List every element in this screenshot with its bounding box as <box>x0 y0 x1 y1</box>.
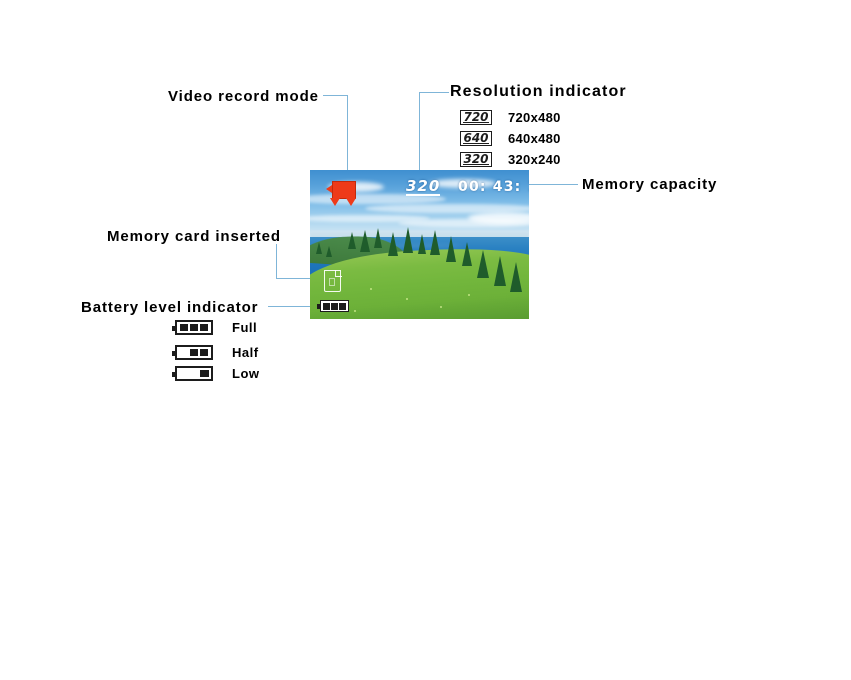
osd-memory-capacity-timer: 00: 43: 16 <box>458 179 529 195</box>
meadow-fleck <box>406 298 408 300</box>
resolution-legend-row: 640 640x480 <box>450 128 627 149</box>
video-camera-icon <box>326 179 360 209</box>
callout-battery-level-indicator: Battery level indicator <box>81 299 258 316</box>
pine-tree <box>510 262 522 292</box>
resolution-legend-title: Resolution indicator <box>450 83 627 101</box>
memory-card-icon <box>324 270 341 292</box>
pine-tree <box>462 242 472 266</box>
battery-full-icon <box>175 320 213 335</box>
leader-resolution-horizontal <box>419 92 449 93</box>
battery-legend-row-low: Low <box>170 366 260 381</box>
battery-segment <box>200 324 208 331</box>
battery-full-icon <box>320 300 349 312</box>
video-camera-foot-left <box>330 198 340 206</box>
battery-segment <box>180 324 188 331</box>
meadow-fleck <box>440 306 442 308</box>
battery-segment <box>190 349 198 356</box>
battery-segment <box>200 370 209 377</box>
pine-tree <box>418 234 426 254</box>
video-camera-body <box>332 181 356 199</box>
battery-legend-row-full: Full <box>170 320 257 335</box>
resolution-badge-320: 320 <box>460 152 492 167</box>
resolution-legend-row: 720 720x480 <box>450 107 627 128</box>
pine-tree <box>446 236 456 262</box>
resolution-text-720: 720x480 <box>508 110 561 125</box>
resolution-badge-640: 640 <box>460 131 492 146</box>
resolution-badge-720: 720 <box>460 110 492 125</box>
pine-tree <box>388 232 398 256</box>
resolution-text-320: 320x240 <box>508 152 561 167</box>
pine-tree <box>430 230 440 255</box>
resolution-text-640: 640x480 <box>508 131 561 146</box>
battery-segment <box>190 324 198 331</box>
pine-tree <box>477 250 489 278</box>
battery-segment <box>200 349 208 356</box>
battery-segment <box>323 303 330 310</box>
leader-resolution-vertical <box>419 92 420 174</box>
leader-memory-capacity-horizontal <box>525 184 578 185</box>
battery-legend-label-full: Full <box>232 320 257 335</box>
battery-half-icon <box>175 345 213 360</box>
pine-tree <box>360 230 370 252</box>
resolution-legend: Resolution indicator 720 720x480 640 640… <box>450 83 627 170</box>
battery-legend-label-low: Low <box>232 366 260 381</box>
leader-video-record-mode-vertical <box>347 95 348 173</box>
memory-card-inner <box>329 278 335 286</box>
cloud <box>468 212 529 224</box>
pine-tree <box>374 228 382 248</box>
meadow-fleck <box>468 294 470 296</box>
leader-video-record-mode-horizontal <box>323 95 348 96</box>
battery-segment-empty <box>180 349 188 356</box>
meadow-fleck <box>370 288 372 290</box>
battery-legend-row-half: Half <box>170 345 259 360</box>
battery-low-icon <box>175 366 213 381</box>
video-camera-foot-right <box>346 198 356 206</box>
pine-tree <box>494 256 506 286</box>
osd-resolution-indicator: 320 <box>406 179 440 196</box>
camera-lcd-screen: 320 00: 43: 16 <box>310 170 529 319</box>
pine-tree <box>403 227 413 253</box>
callout-memory-capacity: Memory capacity <box>582 176 717 193</box>
callout-memory-card-inserted: Memory card inserted <box>107 228 281 245</box>
leader-memory-card-vertical <box>276 244 277 278</box>
battery-legend-label-half: Half <box>232 345 259 360</box>
battery-segment <box>331 303 338 310</box>
pine-tree <box>316 242 322 254</box>
pine-tree <box>348 232 356 249</box>
diagram-canvas: Video record mode Memory card inserted B… <box>0 0 851 680</box>
battery-segment <box>339 303 346 310</box>
meadow-fleck <box>354 310 356 312</box>
pine-tree <box>326 246 332 257</box>
callout-video-record-mode: Video record mode <box>168 88 319 105</box>
resolution-legend-row: 320 320x240 <box>450 149 627 170</box>
